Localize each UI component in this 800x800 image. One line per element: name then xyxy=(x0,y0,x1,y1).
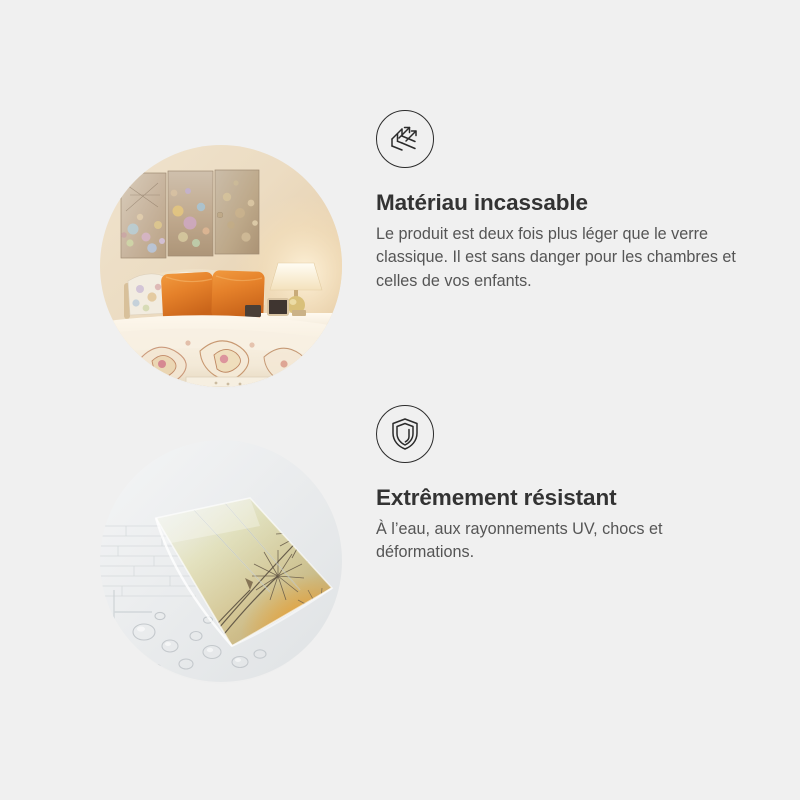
feature-title: Extrêmement résistant xyxy=(376,485,752,511)
feature-title: Matériau incassable xyxy=(376,190,752,216)
feature-text-block-1: Matériau incassable Le produit est deux … xyxy=(376,110,752,293)
unbreakable-panel-arrows-icon xyxy=(376,110,434,168)
feature-description: À l’eau, aux rayonnements UV, chocs et d… xyxy=(376,518,746,565)
feature-block-resistant: Extrêmement résistant À l’eau, aux rayon… xyxy=(0,405,800,705)
product-image-circle-1 xyxy=(100,145,342,387)
shield-icon xyxy=(376,405,434,463)
feature-block-unbreakable: Matériau incassable Le produit est deux … xyxy=(0,110,800,410)
feature-description: Le produit est deux fois plus léger que … xyxy=(376,223,746,294)
feature-text-block-2: Extrêmement résistant À l’eau, aux rayon… xyxy=(376,405,752,565)
product-image-circle-2 xyxy=(100,440,342,682)
bedroom-photo xyxy=(100,145,342,387)
dandelion-photo xyxy=(100,440,342,682)
